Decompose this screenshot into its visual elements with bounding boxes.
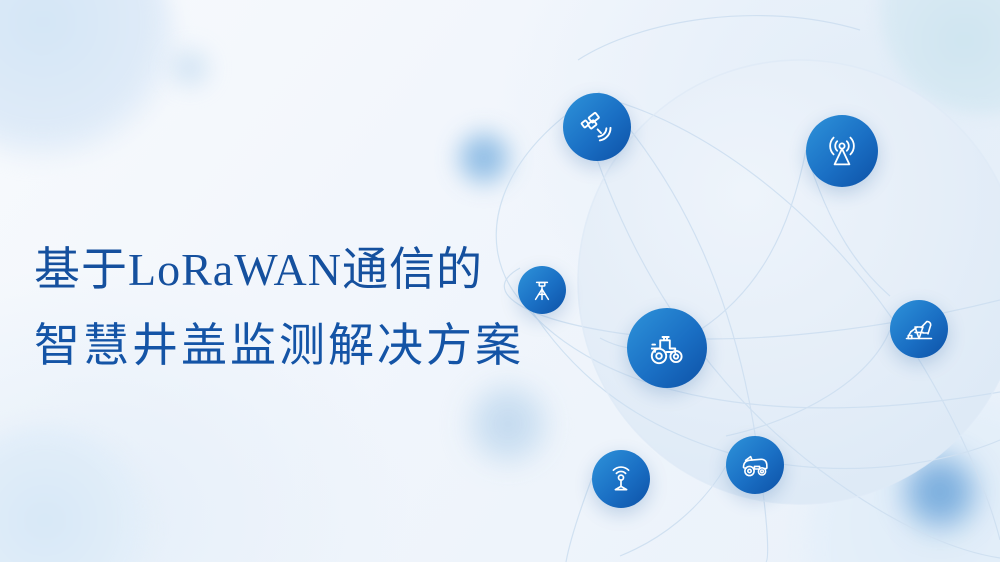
node-satellite[interactable]	[563, 93, 631, 161]
node-oil-pumpjack[interactable]	[890, 300, 948, 358]
title-line-1: 基于LoRaWAN通信的	[34, 232, 574, 308]
satellite-icon	[577, 107, 617, 147]
node-survey-tripod[interactable]	[518, 266, 566, 314]
node-harvester[interactable]	[726, 436, 784, 494]
survey-tripod-icon	[528, 276, 556, 304]
oil-pumpjack-icon	[901, 311, 937, 347]
node-antenna-tower[interactable]	[806, 115, 878, 187]
node-tractor[interactable]	[627, 308, 707, 388]
slide-canvas: 基于LoRaWAN通信的 智慧井盖监测解决方案	[0, 0, 1000, 562]
harvester-icon	[737, 447, 773, 483]
title-line-2: 智慧井盖监测解决方案	[34, 308, 574, 384]
antenna-tower-icon	[820, 129, 864, 173]
signal-beacon-icon	[604, 462, 638, 496]
tractor-icon	[643, 324, 691, 372]
slide-title: 基于LoRaWAN通信的 智慧井盖监测解决方案	[34, 232, 574, 384]
node-signal-beacon[interactable]	[592, 450, 650, 508]
